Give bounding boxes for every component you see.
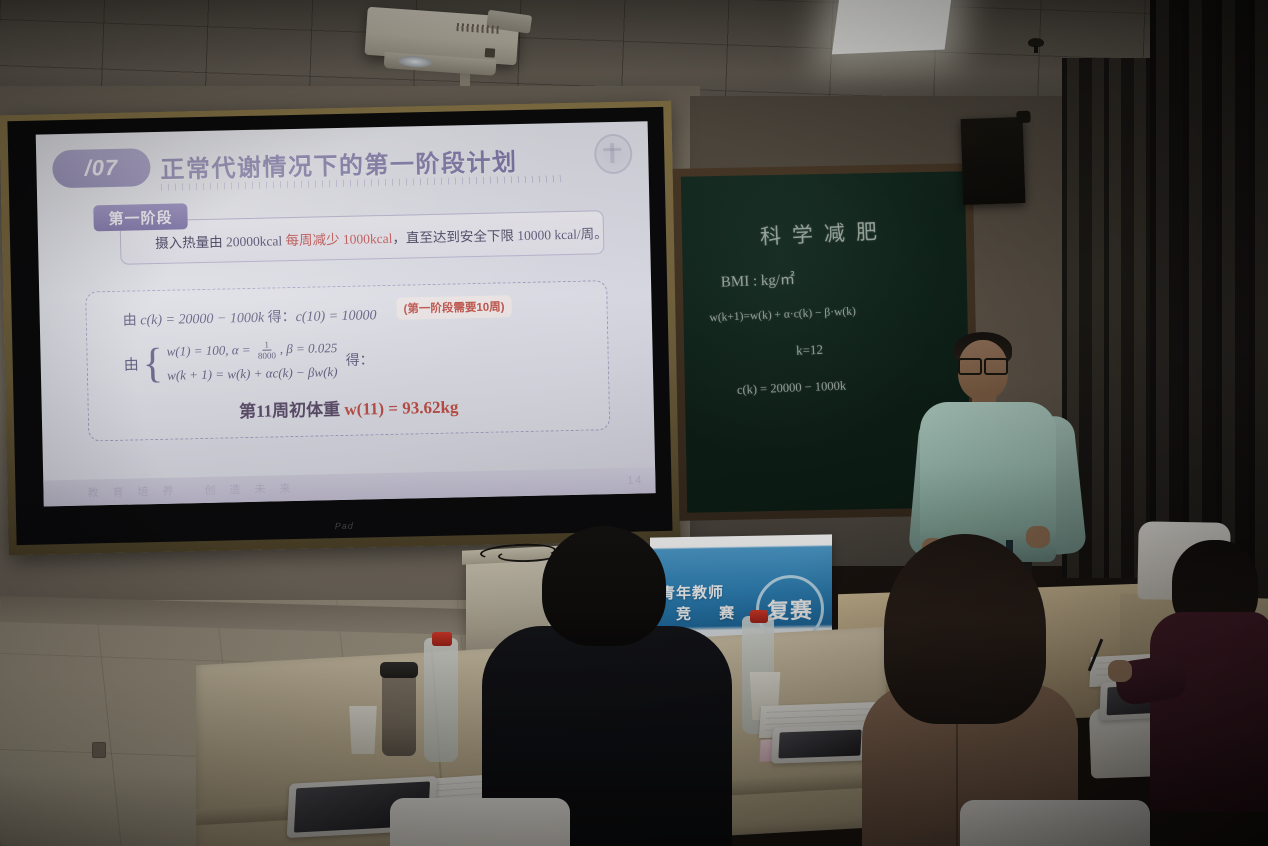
- coat-seam: [956, 704, 958, 846]
- slide-footer: 教育培养 创造未来 14: [43, 467, 655, 506]
- wall-outlet: [92, 742, 106, 758]
- projector-lens-icon: [398, 55, 433, 68]
- audience-head: [542, 526, 666, 646]
- statement-prefix: 摄入热量由: [155, 234, 226, 251]
- blackboard-title: 科学减肥: [759, 215, 888, 251]
- derivation-line1-result: c(10) = 10000: [295, 308, 376, 325]
- equation-system: w(1) = 100, α = 18000, β = 0.025 w(k + 1…: [166, 339, 338, 384]
- screen-brand-logo: Pad: [335, 521, 354, 531]
- stage-tag: 第一阶段: [93, 203, 188, 231]
- fraction: 18000: [256, 340, 278, 360]
- university-logo-watermark-icon: [594, 134, 633, 175]
- smoke-detector-icon: [1028, 38, 1044, 47]
- audience-hair: [884, 534, 1046, 724]
- statement-middle: ，直至达到安全下限: [392, 228, 517, 246]
- conclusion-label: 第11周初体重: [239, 400, 345, 421]
- system-brace: {: [142, 343, 163, 383]
- derivation-line1-prefix: 由: [123, 313, 141, 328]
- system-row1-part-b: , β = 0.025: [280, 340, 338, 356]
- presentation-slide: /07 正常代谢情况下的第一阶段计划 第一阶段 摄入热量由 20000kcal …: [36, 121, 656, 506]
- blackboard-line-2: BMI : kg/㎡: [720, 268, 795, 292]
- derivation-line1-equation: c(k) = 20000 − 1000k: [140, 311, 264, 329]
- conclusion-value: w(11) = 93.62kg: [344, 397, 458, 418]
- thermos-flask: [382, 672, 416, 756]
- derivation-line2-suffix: 得：: [345, 349, 373, 370]
- statement-value-step: 1000kcal: [339, 231, 392, 247]
- derivation-line-2: 由 { w(1) = 100, α = 18000, β = 0.025 w(k…: [123, 338, 374, 384]
- water-bottle: [424, 638, 458, 762]
- system-row1-part-a: w(1) = 100, α =: [166, 342, 254, 359]
- stage-tag-label: 第一阶段: [108, 206, 172, 228]
- blackboard-line-4: k=12: [796, 342, 823, 359]
- fraction-denominator: 8000: [256, 350, 278, 360]
- audience-front-dark-suit: [476, 516, 748, 846]
- derivation-line2-prefix: 由: [124, 353, 139, 374]
- derivation-panel: 由 c(k) = 20000 − 1000k 得：c(10) = 10000 (…: [85, 280, 610, 441]
- ceiling-projector: [365, 7, 520, 65]
- projector-port: [485, 48, 496, 58]
- audience-hand: [1108, 660, 1132, 682]
- chair: [960, 800, 1150, 846]
- slide-number-text: /07: [84, 155, 118, 182]
- derivation-conclusion: 第11周初体重 w(11) = 93.62kg: [89, 389, 609, 425]
- derivation-line1-middle: 得：: [264, 310, 296, 326]
- statement-text: 摄入热量由 20000kcal 每周减少 1000kcal，直至达到安全下限 1…: [121, 222, 608, 253]
- statement-value-limit: 10000 kcal/周。: [517, 226, 608, 243]
- smart-screen[interactable]: /07 正常代谢情况下的第一阶段计划 第一阶段 摄入热量由 20000kcal …: [0, 101, 681, 556]
- audience-maroon-sweater: [1150, 540, 1268, 846]
- bottle-cap: [432, 632, 452, 646]
- system-row-1: w(1) = 100, α = 18000, β = 0.025: [166, 339, 337, 363]
- bottle-cap: [750, 610, 768, 623]
- classroom-scene: /07 正常代谢情况下的第一阶段计划 第一阶段 摄入热量由 20000kcal …: [0, 0, 1268, 846]
- projector-vents: [456, 23, 500, 34]
- wall-speaker: [961, 117, 1026, 205]
- slide-footer-text: 教育培养 创造未来: [43, 480, 304, 502]
- fraction-numerator: 1: [262, 341, 271, 351]
- system-row-2: w(k + 1) = w(k) + αc(k) − βw(k): [167, 364, 338, 384]
- statement-value-start: 20000kcal: [226, 233, 286, 249]
- paper-cup: [348, 706, 378, 754]
- ceiling-panel-light-icon: [832, 0, 952, 54]
- projector-stem: [460, 72, 470, 86]
- derivation-line-1: 由 c(k) = 20000 − 1000k 得：c(10) = 10000: [123, 304, 377, 330]
- thermos-cap: [380, 662, 418, 678]
- screen-bezel: /07 正常代谢情况下的第一阶段计划 第一阶段 摄入热量由 20000kcal …: [7, 107, 672, 545]
- slide-page-number: 14: [583, 474, 643, 487]
- derivation-note-chip: (第一阶段需要10周): [396, 295, 511, 320]
- glasses-icon: [958, 358, 1008, 371]
- chair: [390, 798, 570, 846]
- statement-box: 摄入热量由 20000kcal 每周减少 1000kcal，直至达到安全下限 1…: [120, 210, 605, 265]
- slide-number-badge: /07: [52, 148, 151, 188]
- statement-highlight: 每周减少: [285, 232, 339, 248]
- audience-torso: [1150, 612, 1268, 812]
